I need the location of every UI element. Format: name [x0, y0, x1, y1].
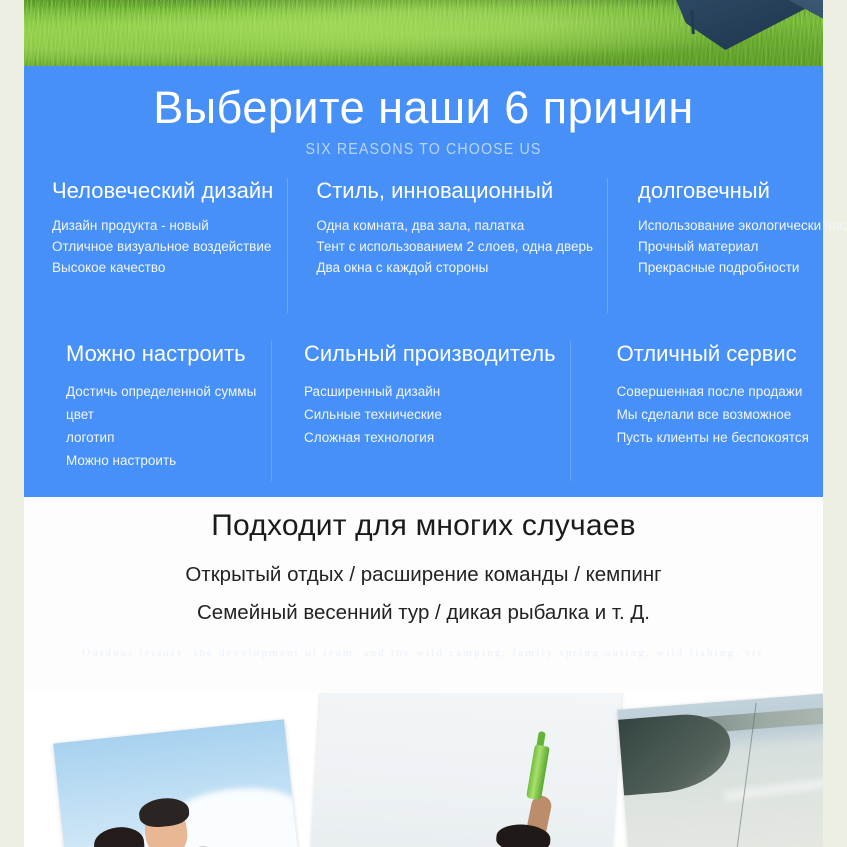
list-item: Два окна с каждой стороны [316, 257, 593, 278]
list-item: Одна комната, два зала, палатка [316, 215, 593, 236]
reason-title-3: долговечный [638, 178, 847, 203]
photo-collage [24, 693, 823, 847]
reason-title-6: Отличный сервис [617, 341, 809, 366]
reason-title-5: Сильный производитель [304, 341, 556, 366]
list-item: Пусть клиенты не беспокоятся [617, 426, 809, 449]
reason-bullets-2: Одна комната, два зала, палатка Тент с и… [316, 215, 593, 278]
collage-photo-lake [617, 693, 823, 847]
person-hair [92, 825, 145, 847]
list-item: Сильные технические [304, 403, 556, 426]
reason-card-3: долговечный Использование экологически ч… [607, 178, 847, 313]
list-item: Мы сделали все возможное [617, 403, 809, 426]
list-item: Сложная технология [304, 426, 556, 449]
list-item: Отличное визуальное воздействие [52, 236, 273, 257]
list-item: Расширенный дизайн [304, 380, 556, 403]
occasions-line-2: Семейный весенний тур / дикая рыбалка и … [24, 601, 823, 625]
reason-card-6: Отличный сервис Совершенная после продаж… [570, 341, 823, 481]
grass-shading [24, 0, 823, 66]
reasons-row-top: Человеческий дизайн Дизайн продукта - но… [24, 178, 823, 313]
reason-card-5: Сильный производитель Расширенный дизайн… [271, 341, 570, 481]
list-item: Тент с использованием 2 слоев, одна двер… [316, 236, 593, 257]
list-item: Высокое качество [52, 257, 273, 278]
hero-grass-image [24, 0, 823, 66]
list-item: логотип [66, 426, 257, 449]
reason-title-4: Можно настроить [66, 341, 257, 366]
collage-photo-bottle [310, 693, 621, 847]
reasons-grid: Человеческий дизайн Дизайн продукта - но… [24, 178, 823, 481]
occasions-caption-english: Outdoor leisure, the development of team… [24, 647, 823, 659]
reason-title-1: Человеческий дизайн [52, 178, 273, 203]
page-title: Выберите наши 6 причин [24, 84, 823, 133]
shore-shape [617, 711, 733, 796]
reasons-row-bottom: Можно настроить Достичь определенной сум… [24, 341, 823, 481]
list-item: Прекрасные подробности [638, 257, 847, 278]
occasions-line-1: Открытый отдых / расширение команды / ке… [24, 563, 823, 587]
list-item: Дизайн продукта - новый [52, 215, 273, 236]
list-item: цвет [66, 403, 257, 426]
occasions-section: Подходит для многих случаев Открытый отд… [24, 497, 823, 693]
collage-photo-couple [53, 719, 303, 847]
reason-title-2: Стиль, инновационный [316, 178, 593, 203]
page-subtitle-english: SIX REASONS TO CHOOSE US [56, 141, 791, 159]
reason-bullets-5: Расширенный дизайн Сильные технические С… [304, 380, 556, 449]
reason-bullets-1: Дизайн продукта - новый Отличное визуаль… [52, 215, 273, 278]
reasons-panel: Выберите наши 6 причин SIX REASONS TO CH… [24, 66, 823, 497]
reason-card-2: Стиль, инновационный Одна комната, два з… [287, 178, 607, 313]
reason-bullets-6: Совершенная после продажи Мы сделали все… [617, 380, 809, 449]
list-item: Достичь определенной суммы [66, 380, 257, 403]
reason-bullets-4: Достичь определенной суммы цвет логотип … [66, 380, 257, 472]
occasions-title: Подходит для многих случаев [24, 509, 823, 543]
water-glint [724, 772, 823, 801]
reason-card-1: Человеческий дизайн Дизайн продукта - но… [24, 178, 287, 313]
reason-card-4: Можно настроить Достичь определенной сум… [24, 341, 271, 481]
reason-bullets-3: Использование экологически чистых Прочны… [638, 215, 847, 278]
list-item: Можно настроить [66, 449, 257, 472]
green-bottle-icon [526, 745, 550, 801]
list-item: Использование экологически чистых [638, 215, 847, 236]
product-detail-page: Выберите наши 6 причин SIX REASONS TO CH… [0, 0, 847, 847]
list-item: Прочный материал [638, 236, 847, 257]
list-item: Совершенная после продажи [617, 380, 809, 403]
